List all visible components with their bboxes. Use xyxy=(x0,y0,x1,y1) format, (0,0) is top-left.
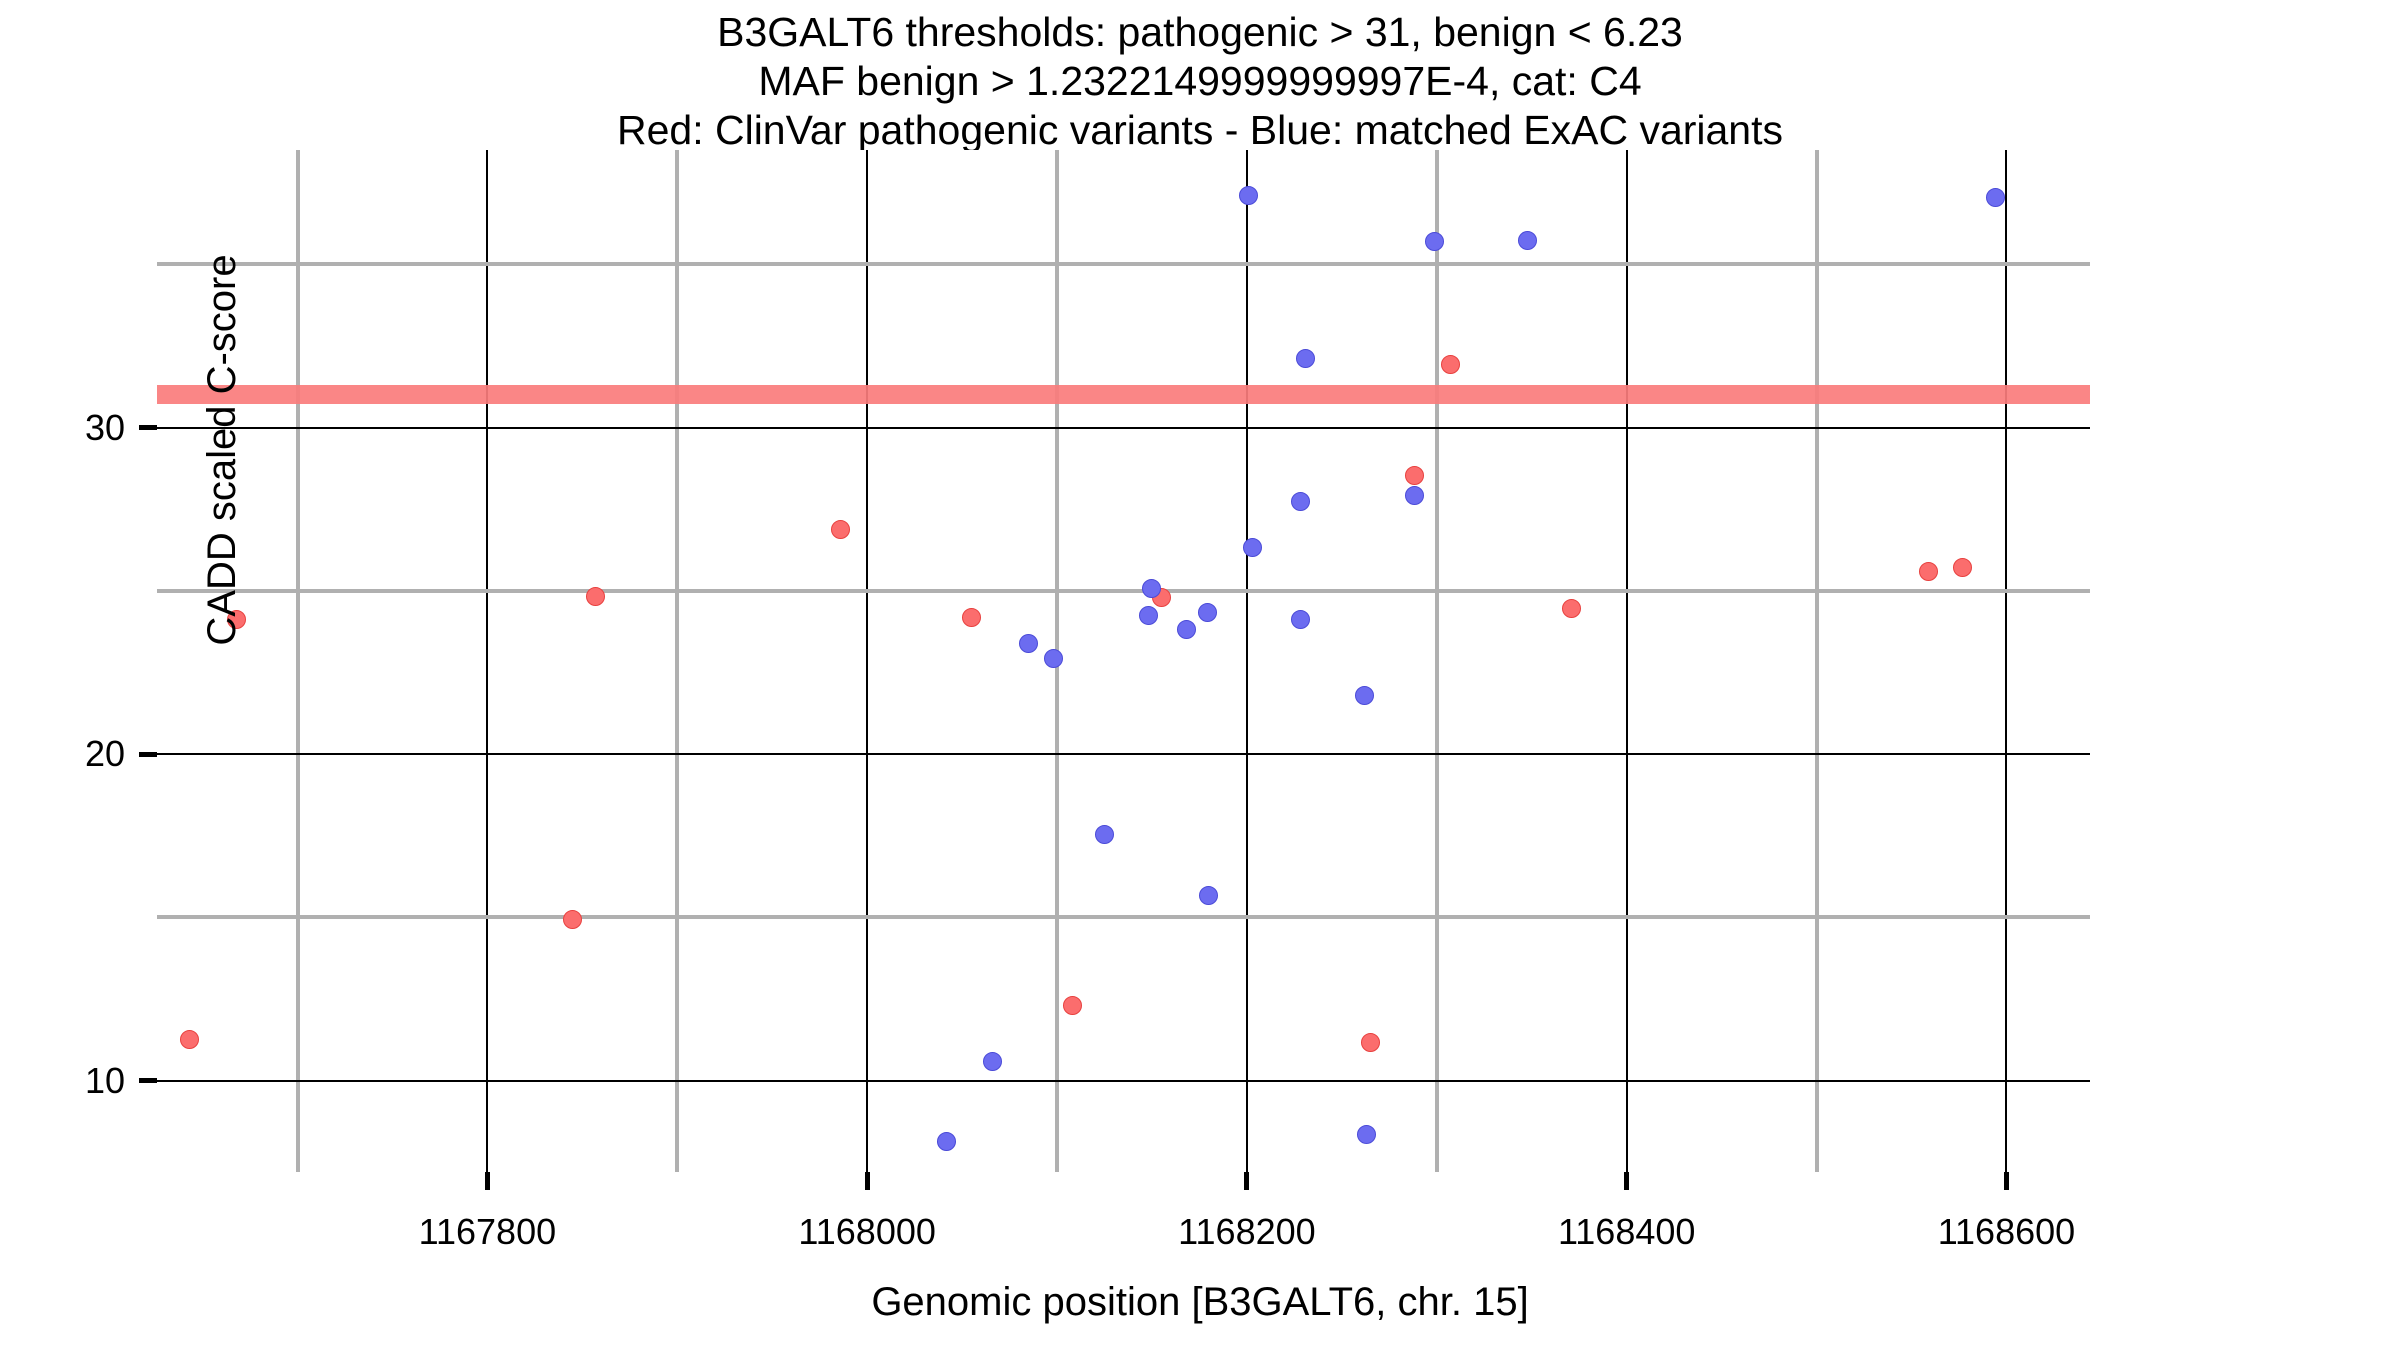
x-axis-tick-label: 1168000 xyxy=(717,1214,1017,1250)
point-exac xyxy=(1239,186,1258,205)
y-axis-label: CADD scaled C-score xyxy=(202,220,242,680)
y-axis-tick xyxy=(139,752,157,757)
point-pathogenic xyxy=(180,1030,199,1049)
horizontal-minor-gridline xyxy=(157,589,2090,593)
horizontal-minor-gridline xyxy=(157,262,2090,266)
point-exac xyxy=(1044,649,1063,668)
point-exac xyxy=(1139,606,1158,625)
point-pathogenic xyxy=(1361,1033,1380,1052)
title-line-1: B3GALT6 thresholds: pathogenic > 31, ben… xyxy=(0,8,2400,57)
point-exac xyxy=(937,1132,956,1151)
vertical-major-gridline xyxy=(2005,150,2007,1172)
chart-root: B3GALT6 thresholds: pathogenic > 31, ben… xyxy=(0,0,2400,1350)
point-pathogenic xyxy=(1441,355,1460,374)
vertical-minor-gridline xyxy=(675,150,679,1172)
point-exac xyxy=(1019,634,1038,653)
pathogenic-threshold-line xyxy=(157,385,2090,404)
vertical-minor-gridline xyxy=(1815,150,1819,1172)
title-line-2: MAF benign > 1.2322149999999997E-4, cat:… xyxy=(0,57,2400,106)
x-axis-tick xyxy=(1624,1172,1629,1190)
x-axis-tick xyxy=(865,1172,870,1190)
point-exac xyxy=(983,1052,1002,1071)
y-axis-tick-label: 10 xyxy=(0,1063,125,1099)
vertical-minor-gridline xyxy=(296,150,300,1172)
point-exac xyxy=(1291,492,1310,511)
point-exac xyxy=(1291,610,1310,629)
vertical-major-gridline xyxy=(1246,150,1248,1172)
x-axis-label: Genomic position [B3GALT6, chr. 15] xyxy=(0,1282,2400,1322)
point-exac xyxy=(1177,620,1196,639)
x-axis-tick-label: 1167800 xyxy=(337,1214,637,1250)
y-axis-tick xyxy=(139,1078,157,1083)
point-pathogenic xyxy=(563,910,582,929)
point-exac xyxy=(1405,486,1424,505)
point-pathogenic xyxy=(831,520,850,539)
point-exac xyxy=(1198,603,1217,622)
point-pathogenic xyxy=(1063,996,1082,1015)
point-pathogenic xyxy=(962,608,981,627)
point-pathogenic xyxy=(1919,562,1938,581)
point-exac xyxy=(1425,232,1444,251)
vertical-major-gridline xyxy=(1626,150,1628,1172)
point-exac xyxy=(1095,825,1114,844)
y-axis-tick-label: 30 xyxy=(0,410,125,446)
point-exac xyxy=(1355,686,1374,705)
plot-area xyxy=(157,150,2090,1172)
point-exac xyxy=(1518,231,1537,250)
x-axis-tick xyxy=(1244,1172,1249,1190)
point-pathogenic xyxy=(1562,599,1581,618)
vertical-major-gridline xyxy=(866,150,868,1172)
point-exac xyxy=(1199,886,1218,905)
vertical-minor-gridline xyxy=(1435,150,1439,1172)
point-exac xyxy=(1243,538,1262,557)
point-pathogenic xyxy=(586,587,605,606)
chart-title: B3GALT6 thresholds: pathogenic > 31, ben… xyxy=(0,8,2400,155)
x-axis-tick-label: 1168400 xyxy=(1477,1214,1777,1250)
point-exac xyxy=(1296,349,1315,368)
vertical-major-gridline xyxy=(486,150,488,1172)
horizontal-major-gridline xyxy=(157,753,2090,755)
x-axis-tick xyxy=(2004,1172,2009,1190)
x-axis-tick xyxy=(485,1172,490,1190)
horizontal-minor-gridline xyxy=(157,915,2090,919)
x-axis-tick-label: 1168200 xyxy=(1097,1214,1397,1250)
point-pathogenic xyxy=(1953,558,1972,577)
y-axis-tick-label: 20 xyxy=(0,736,125,772)
point-exac xyxy=(1357,1125,1376,1144)
point-exac xyxy=(1986,188,2005,207)
point-pathogenic xyxy=(1405,466,1424,485)
title-line-3: Red: ClinVar pathogenic variants - Blue:… xyxy=(0,106,2400,155)
horizontal-major-gridline xyxy=(157,1080,2090,1082)
y-axis-tick xyxy=(139,425,157,430)
horizontal-major-gridline xyxy=(157,427,2090,429)
x-axis-tick-label: 1168600 xyxy=(1856,1214,2156,1250)
